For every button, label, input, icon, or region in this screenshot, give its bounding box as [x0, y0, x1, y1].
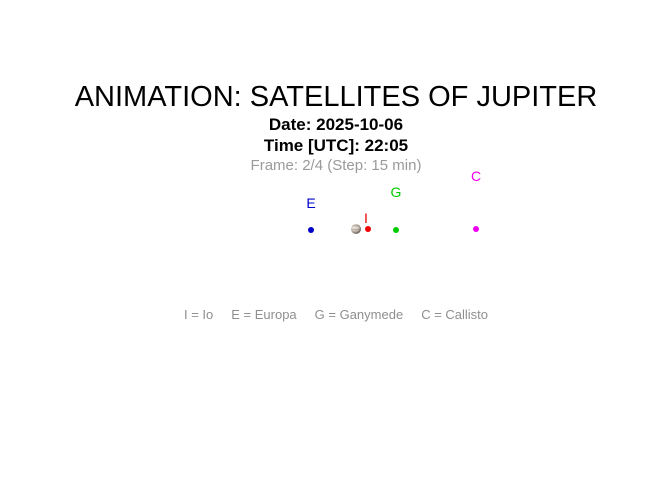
moon-marker-europa — [308, 227, 314, 233]
legend: I = IoE = EuropaG = GanymedeC = Callisto — [0, 306, 672, 324]
animation-canvas: ANIMATION: SATELLITES OF JUPITER Date: 2… — [0, 0, 672, 480]
jupiter-disk — [351, 224, 361, 234]
moon-marker-ganymede — [393, 227, 399, 233]
moon-label-io: I — [364, 211, 368, 225]
legend-entry: C = Callisto — [421, 307, 488, 322]
legend-entry: I = Io — [184, 307, 213, 322]
moon-marker-io — [365, 226, 371, 232]
moon-label-callisto: C — [471, 169, 481, 183]
moon-label-ganymede: G — [391, 185, 402, 199]
moon-label-europa: E — [306, 196, 315, 210]
moon-marker-callisto — [473, 226, 479, 232]
legend-entry: E = Europa — [231, 307, 296, 322]
legend-entry: G = Ganymede — [315, 307, 404, 322]
orbit-plot: EIGC — [0, 0, 672, 480]
